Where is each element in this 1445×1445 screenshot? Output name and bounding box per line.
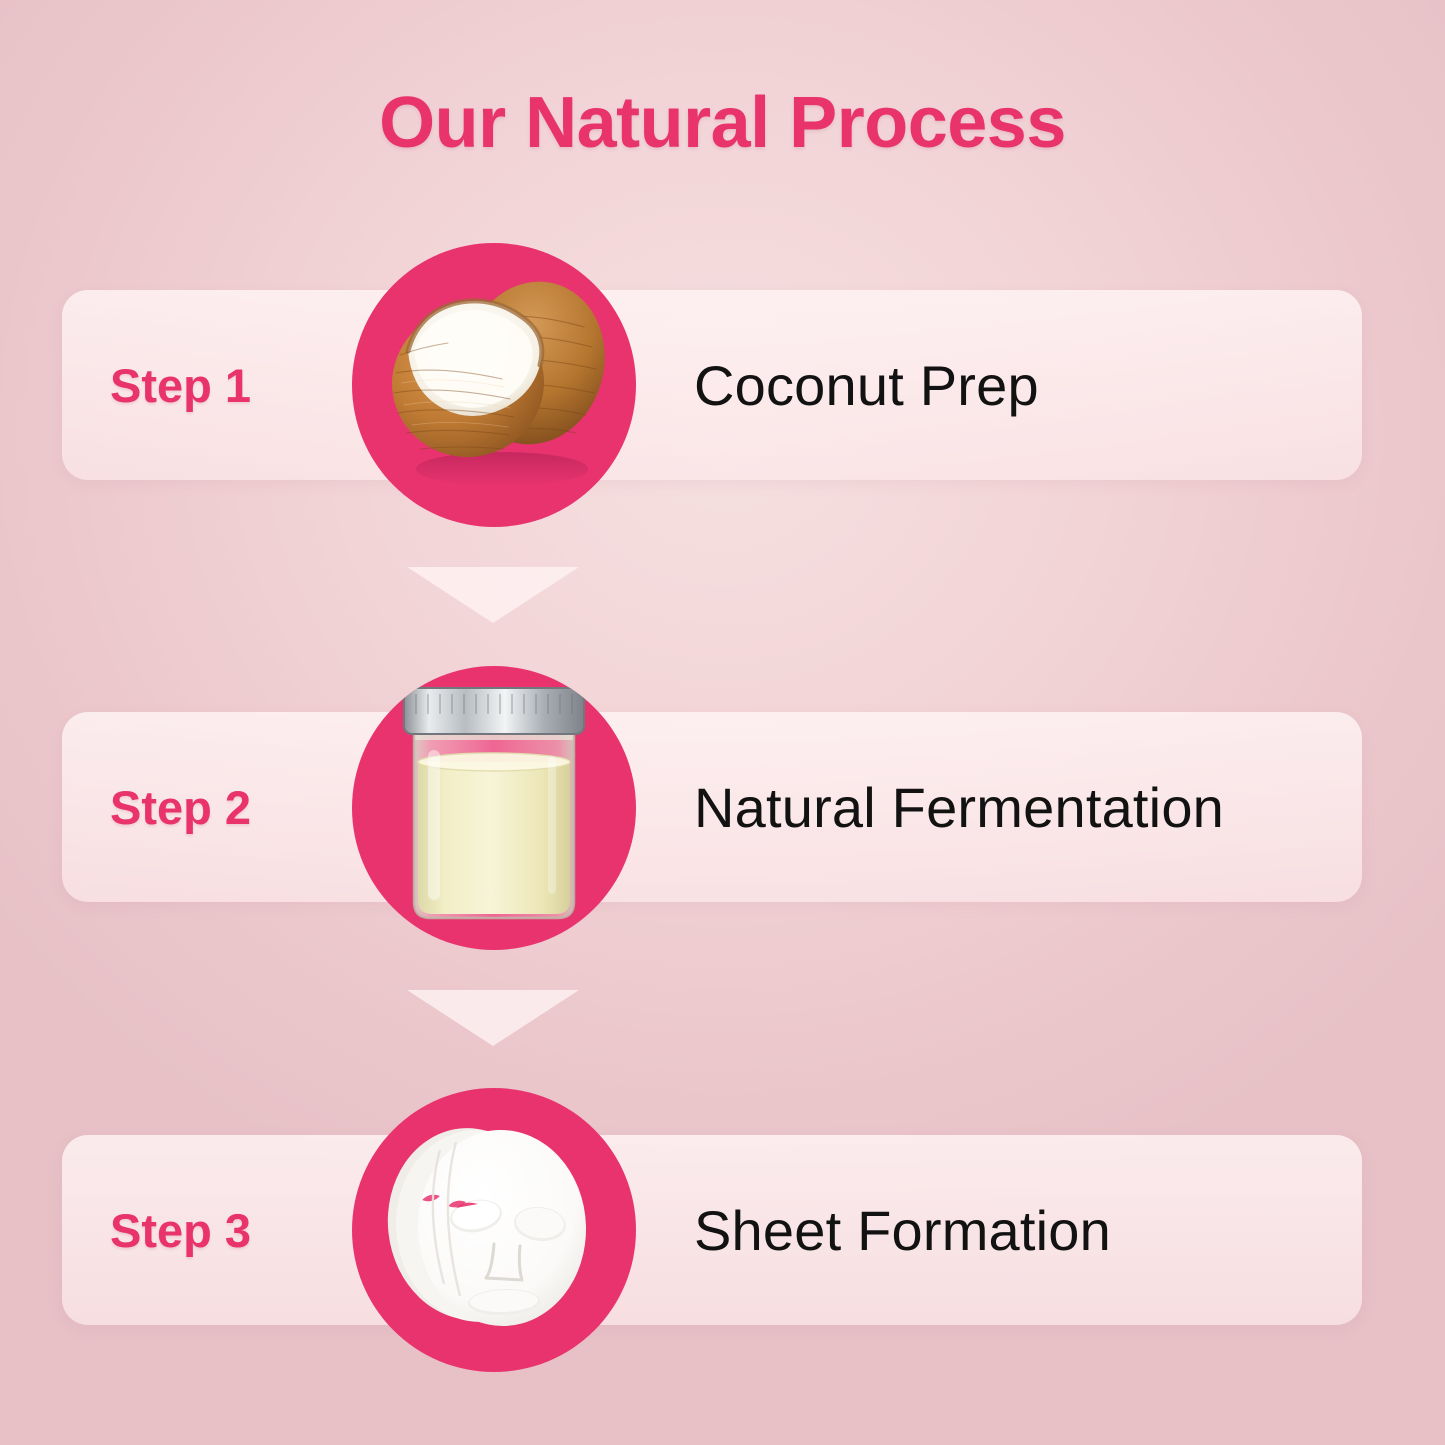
step-1-badge [352, 243, 636, 527]
coconut-icon [352, 243, 636, 527]
sheet-mask-icon [352, 1088, 636, 1372]
step-row-1: Step 1 Coconut Prep [62, 290, 1362, 480]
step-row-2: Step 2 Natural Fermentation [62, 712, 1362, 902]
step-3-label: Step 3 [110, 1135, 251, 1325]
step-2-text: Natural Fermentation [694, 712, 1224, 902]
step-2-label: Step 2 [110, 712, 251, 902]
step-2-badge [352, 666, 636, 950]
step-3-badge [352, 1088, 636, 1372]
step-1-text: Coconut Prep [694, 290, 1039, 480]
step-3-text: Sheet Formation [694, 1135, 1111, 1325]
page-title: Our Natural Process [0, 82, 1445, 164]
process-infographic: Our Natural Process Step 1 Coconut Prep [0, 0, 1445, 1445]
arrow-down-icon-2 [407, 990, 579, 1046]
step-1-label: Step 1 [110, 290, 251, 480]
arrow-down-icon-1 [407, 567, 579, 623]
fermentation-jar-icon [352, 666, 636, 950]
step-row-3: Step 3 Sheet Formation [62, 1135, 1362, 1325]
